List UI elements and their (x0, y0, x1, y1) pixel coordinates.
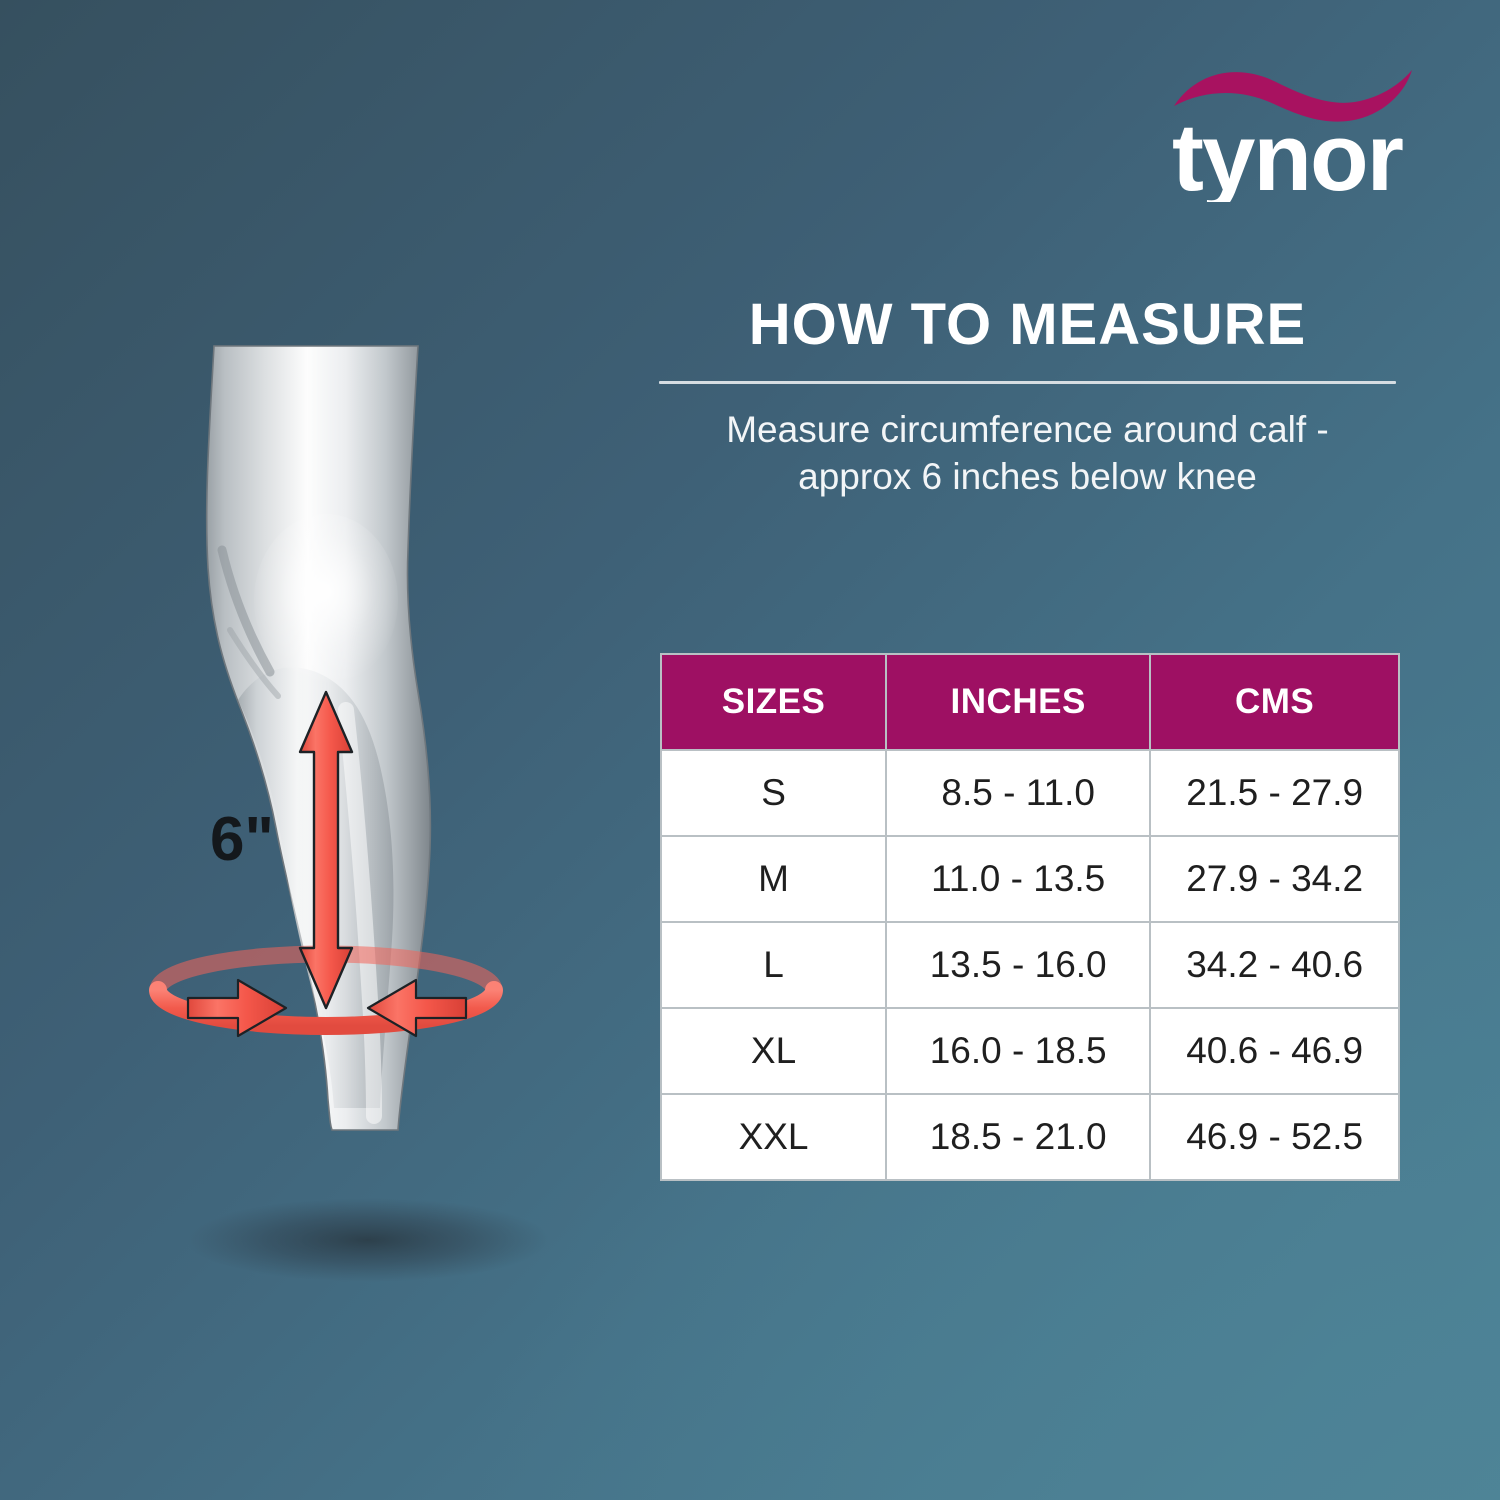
cell-cms: 34.2 - 40.6 (1150, 922, 1399, 1008)
table-row: XL 16.0 - 18.5 40.6 - 46.9 (661, 1008, 1399, 1094)
leg-measurement-illustration: 6" (130, 300, 610, 1350)
size-chart-table: SIZES INCHES CMS S 8.5 - 11.0 21.5 - 27.… (660, 653, 1400, 1180)
table-row: L 13.5 - 16.0 34.2 - 40.6 (661, 922, 1399, 1008)
table-row: XXL 18.5 - 21.0 46.9 - 52.5 (661, 1094, 1399, 1180)
page-title: HOW TO MEASURE (655, 296, 1400, 354)
cell-cms: 40.6 - 46.9 (1150, 1008, 1399, 1094)
cell-size: XXL (661, 1094, 886, 1180)
table-row: S 8.5 - 11.0 21.5 - 27.9 (661, 750, 1399, 836)
cell-size: XL (661, 1008, 886, 1094)
cell-inches: 11.0 - 13.5 (886, 836, 1150, 922)
cell-cms: 21.5 - 27.9 (1150, 750, 1399, 836)
column-header-inches: INCHES (886, 654, 1150, 750)
column-header-sizes: SIZES (661, 654, 886, 750)
cell-inches: 8.5 - 11.0 (886, 750, 1150, 836)
cell-size: S (661, 750, 886, 836)
cell-size: L (661, 922, 886, 1008)
tynor-logo: tynor (1168, 62, 1418, 202)
cell-cms: 27.9 - 34.2 (1150, 836, 1399, 922)
cell-size: M (661, 836, 886, 922)
table-row: M 11.0 - 13.5 27.9 - 34.2 (661, 836, 1399, 922)
measure-instructions: HOW TO MEASURE Measure circumference aro… (655, 296, 1400, 501)
cell-inches: 16.0 - 18.5 (886, 1008, 1150, 1094)
cell-inches: 18.5 - 21.0 (886, 1094, 1150, 1180)
cell-cms: 46.9 - 52.5 (1150, 1094, 1399, 1180)
page-subtitle: Measure circumference around calf - appr… (655, 406, 1400, 501)
subtitle-line-1: Measure circumference around calf - (655, 406, 1400, 453)
knee-highlight (254, 514, 398, 686)
logo-wordmark: tynor (1172, 104, 1403, 202)
subtitle-line-2: approx 6 inches below knee (655, 453, 1400, 500)
measure-label: 6" (210, 805, 274, 874)
ground-shadow-ellipse (186, 1198, 550, 1282)
column-header-cms: CMS (1150, 654, 1399, 750)
table-header-row: SIZES INCHES CMS (661, 654, 1399, 750)
title-divider (659, 381, 1396, 384)
cell-inches: 13.5 - 16.0 (886, 922, 1150, 1008)
